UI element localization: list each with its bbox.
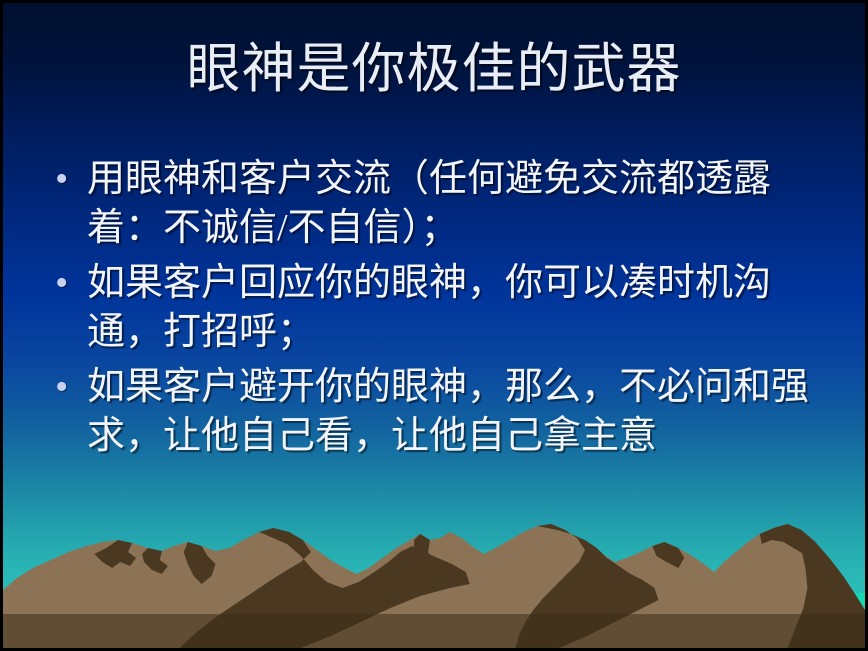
bullet-text: 如果客户回应你的眼神，你可以凑时机沟通，打招呼； bbox=[87, 259, 837, 357]
presentation-slide: 眼神是你极佳的武器 • 用眼神和客户交流（任何避免交流都透露着：不诚信/不自信）… bbox=[0, 0, 868, 651]
bullet-dot-icon: • bbox=[47, 363, 87, 412]
bullet-text: 如果客户避开你的眼神，那么，不必问和强求，让他自己看，让他自己拿主意 bbox=[87, 363, 837, 461]
slide-content-layer: 眼神是你极佳的武器 • 用眼神和客户交流（任何避免交流都透露着：不诚信/不自信）… bbox=[3, 3, 865, 648]
list-item: • 如果客户回应你的眼神，你可以凑时机沟通，打招呼； bbox=[47, 259, 837, 357]
list-item: • 用眼神和客户交流（任何避免交流都透露着：不诚信/不自信）； bbox=[47, 155, 837, 253]
bullet-text: 用眼神和客户交流（任何避免交流都透露着：不诚信/不自信）； bbox=[87, 155, 837, 253]
slide-title: 眼神是你极佳的武器 bbox=[3, 41, 865, 98]
bullet-dot-icon: • bbox=[47, 155, 87, 204]
bullet-dot-icon: • bbox=[47, 259, 87, 308]
bullet-list: • 用眼神和客户交流（任何避免交流都透露着：不诚信/不自信）； • 如果客户回应… bbox=[47, 155, 837, 467]
list-item: • 如果客户避开你的眼神，那么，不必问和强求，让他自己看，让他自己拿主意 bbox=[47, 363, 837, 461]
